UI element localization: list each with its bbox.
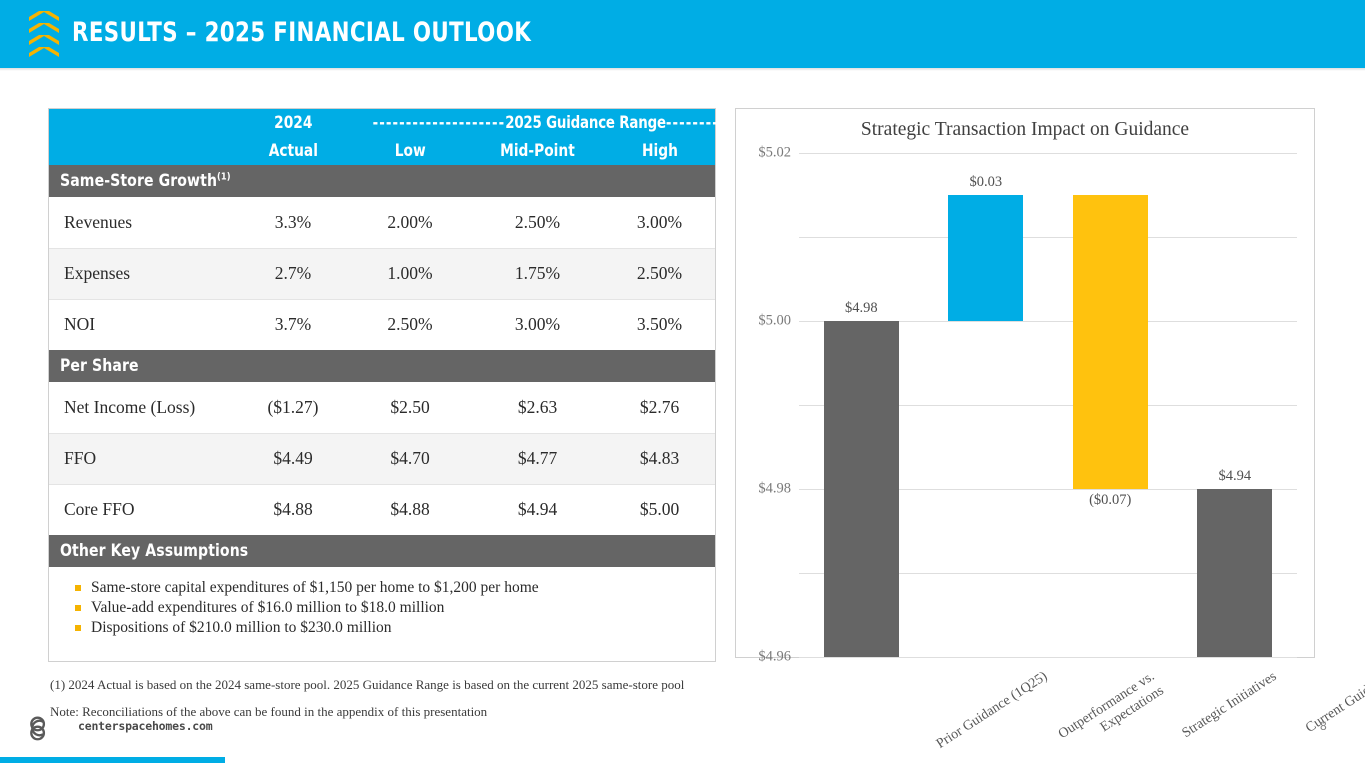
chart-plot-area: $5.02$5.00$4.98$4.96$4.94$4.92$4.90$4.98… — [799, 153, 1297, 657]
slide-header: RESULTS – 2025 FINANCIAL OUTLOOK — [0, 0, 1365, 68]
cell-high: $4.83 — [604, 433, 715, 484]
column-header-actual: Actual — [237, 137, 349, 165]
chart-panel: Strategic Transaction Impact on Guidance… — [735, 108, 1315, 658]
chart-x-tick-line: Current Guidance — [1303, 669, 1365, 738]
cell-actual: 3.7% — [237, 299, 349, 350]
cell-low: 2.50% — [349, 299, 471, 350]
list-item: Dispositions of $210.0 million to $230.0… — [67, 619, 715, 637]
chart-title: Strategic Transaction Impact on Guidance — [736, 119, 1314, 141]
chart-bar-value-label: $0.03 — [969, 174, 1002, 191]
chart-x-tick-label: Strategic Initiatives — [1180, 669, 1281, 743]
chevron-stack-icon — [26, 6, 62, 62]
guidance-table: 2024 --------------------2025 Guidance R… — [49, 109, 715, 661]
cell-low: $4.70 — [349, 433, 471, 484]
list-item-label: Value-add expenditures of $16.0 million … — [91, 599, 444, 616]
centerspace-rings-icon — [25, 710, 61, 746]
cell-high: $5.00 — [604, 484, 715, 535]
chart-bar — [1073, 195, 1148, 489]
section-header-same-store-growth: Same-Store Growth(1) — [49, 165, 715, 197]
cell-mid: $4.77 — [471, 433, 604, 484]
chart-gridline: $4.90 — [799, 657, 1297, 658]
column-header-high: High — [604, 137, 715, 165]
cell-actual: $4.49 — [237, 433, 349, 484]
cell-mid: 1.75% — [471, 248, 604, 299]
bullet-square-icon — [75, 585, 81, 591]
section-title: Other Key Assumptions — [60, 541, 248, 561]
page-number: 8 — [1320, 719, 1327, 733]
footnote-marker: (1) — [217, 171, 231, 182]
chevron-icon — [29, 23, 59, 34]
table-row: FFO $4.49 $4.70 $4.77 $4.83 — [49, 433, 715, 484]
cell-mid: 3.00% — [471, 299, 604, 350]
page-title: RESULTS – 2025 FINANCIAL OUTLOOK — [72, 17, 531, 48]
chart-x-tick-label: Current Guidance — [1303, 669, 1365, 738]
assumptions-row: Same-store capital expenditures of $1,15… — [49, 567, 715, 661]
note-text: Note: Reconciliations of the above can b… — [50, 704, 487, 720]
bullet-square-icon — [75, 605, 81, 611]
list-item-label: Same-store capital expenditures of $1,15… — [91, 579, 539, 596]
cell-actual: 2.7% — [237, 248, 349, 299]
website-text: centerspacehomes.com — [78, 719, 212, 733]
chart-x-tick-line: Strategic Initiatives — [1180, 669, 1281, 743]
chevron-icon — [29, 11, 59, 22]
section-title: Per Share — [60, 356, 139, 376]
table-row: Revenues 3.3% 2.00% 2.50% 3.00% — [49, 197, 715, 248]
cell-actual: 3.3% — [237, 197, 349, 248]
header-year: 2024 — [237, 109, 349, 137]
header-blank-cell-2 — [49, 137, 237, 165]
cell-mid: $2.63 — [471, 382, 604, 433]
cell-actual: $4.88 — [237, 484, 349, 535]
header-shadow — [0, 68, 1365, 71]
chart-bar-value-label: $4.98 — [845, 300, 878, 317]
chart-x-tick-label: Outperformance vs.Expectations — [1056, 669, 1168, 758]
chart-gridline: $5.00 — [799, 237, 1297, 238]
cell-mid: 2.50% — [471, 197, 604, 248]
section-title: Same-Store Growth — [60, 171, 217, 191]
cell-high: 2.50% — [604, 248, 715, 299]
section-header-other-key-assumptions: Other Key Assumptions — [49, 535, 715, 567]
row-label: Revenues — [49, 197, 237, 248]
column-header-midpoint: Mid-Point — [471, 137, 604, 165]
list-item: Same-store capital expenditures of $1,15… — [67, 579, 715, 597]
list-item-label: Dispositions of $210.0 million to $230.0… — [91, 619, 392, 636]
chart-y-tick-label: $4.98 — [758, 481, 791, 498]
assumptions-list: Same-store capital expenditures of $1,15… — [49, 567, 715, 661]
chart-bar — [1197, 489, 1272, 657]
chevron-icon — [29, 47, 59, 58]
chart-y-tick-label: $5.00 — [758, 313, 791, 330]
cell-actual: ($1.27) — [237, 382, 349, 433]
list-item: Value-add expenditures of $16.0 million … — [67, 599, 715, 617]
chart-x-tick-label: Prior Guidance (1Q25) — [934, 669, 1051, 753]
cell-high: 3.50% — [604, 299, 715, 350]
column-header-low: Low — [349, 137, 471, 165]
bullet-square-icon — [75, 625, 81, 631]
row-label: NOI — [49, 299, 237, 350]
guidance-range-label: 2025 Guidance Range — [505, 113, 666, 132]
cell-low: $2.50 — [349, 382, 471, 433]
table-row: Net Income (Loss) ($1.27) $2.50 $2.63 $2… — [49, 382, 715, 433]
chevron-icon — [29, 35, 59, 46]
chart-gridline: $5.02 — [799, 153, 1297, 154]
cell-low: $4.88 — [349, 484, 471, 535]
cell-mid: $4.94 — [471, 484, 604, 535]
row-label: FFO — [49, 433, 237, 484]
chart-y-tick-label: $4.96 — [758, 649, 791, 666]
header-blank-cell — [49, 109, 237, 137]
table-row: Core FFO $4.88 $4.88 $4.94 $5.00 — [49, 484, 715, 535]
table-row: Expenses 2.7% 1.00% 1.75% 2.50% — [49, 248, 715, 299]
slide: RESULTS – 2025 FINANCIAL OUTLOOK 2024 --… — [0, 0, 1365, 768]
chart-bar-value-label: ($0.07) — [1089, 492, 1131, 509]
guidance-table-panel: 2024 --------------------2025 Guidance R… — [48, 108, 716, 662]
dash-left: -------------------- — [373, 113, 506, 132]
row-label: Expenses — [49, 248, 237, 299]
row-label: Core FFO — [49, 484, 237, 535]
header-guidance-range: --------------------2025 Guidance Range-… — [349, 109, 715, 137]
footnote-text: (1) 2024 Actual is based on the 2024 sam… — [50, 677, 684, 693]
chart-bar — [824, 321, 899, 657]
cell-high: 3.00% — [604, 197, 715, 248]
bottom-accent-bar — [0, 757, 225, 763]
table-header-row-1: 2024 --------------------2025 Guidance R… — [49, 109, 715, 137]
chart-x-tick-line: Prior Guidance (1Q25) — [934, 669, 1051, 753]
chart-bar — [948, 195, 1023, 321]
table-row: NOI 3.7% 2.50% 3.00% 3.50% — [49, 299, 715, 350]
section-header-per-share: Per Share — [49, 350, 715, 382]
row-label: Net Income (Loss) — [49, 382, 237, 433]
chart-y-tick-label: $5.02 — [758, 145, 791, 162]
cell-high: $2.76 — [604, 382, 715, 433]
cell-low: 2.00% — [349, 197, 471, 248]
table-header-row-2: Actual Low Mid-Point High — [49, 137, 715, 165]
chart-bar-value-label: $4.94 — [1218, 468, 1251, 485]
cell-low: 1.00% — [349, 248, 471, 299]
